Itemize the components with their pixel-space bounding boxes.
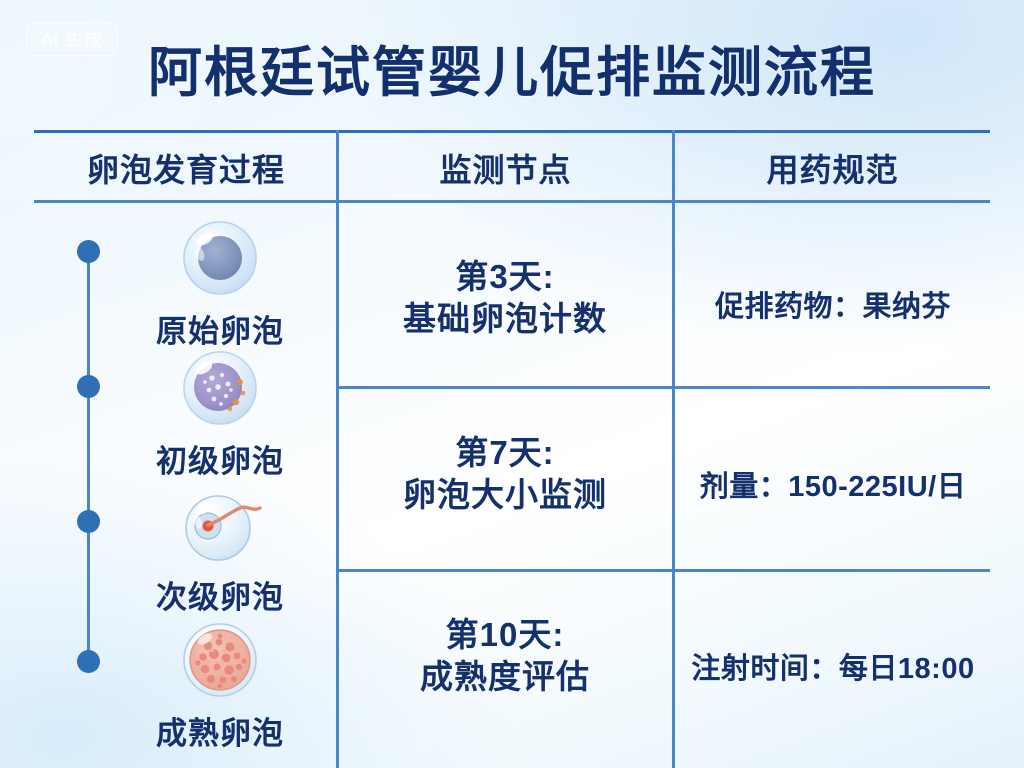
monitoring-day-3: 第10天: (340, 614, 670, 656)
page-title: 阿根廷试管婴儿促排监测流程 (0, 28, 1024, 107)
medication-cell-2: 剂量：150-225IU/日 (676, 463, 990, 505)
follicle-stage-3: 次级卵泡 (110, 478, 330, 617)
timeline-dot-1 (77, 240, 100, 263)
monitoring-cell-1: 第3天: 基础卵泡计数 (340, 256, 670, 340)
monitoring-task-2: 卵泡大小监测 (340, 474, 670, 516)
monitoring-cell-3: 第10天: 成熟度评估 (340, 614, 670, 698)
monitoring-cell-2: 第7天: 卵泡大小监测 (340, 432, 670, 516)
follicle-stage-4-label: 成熟卵泡 (110, 708, 330, 753)
column-divider-1 (336, 130, 339, 768)
table-header-divider (34, 200, 990, 203)
follicle-stage-4: 成熟卵泡 (110, 614, 330, 753)
follicle-stage-2-label: 初级卵泡 (110, 436, 330, 481)
timeline-connector (87, 252, 90, 662)
mature-follicle-icon (174, 614, 266, 706)
primary-follicle-icon (174, 342, 266, 434)
timeline-dot-4 (77, 650, 100, 673)
secondary-follicle-icon (174, 478, 266, 570)
primordial-follicle-icon (174, 212, 266, 304)
infographic-canvas: AI 生成 阿根廷试管婴儿促排监测流程 卵泡发育过程 监测节点 用药规范 (0, 0, 1024, 768)
timeline-dot-3 (77, 510, 100, 533)
follicle-stage-3-label: 次级卵泡 (110, 572, 330, 617)
monitoring-task-1: 基础卵泡计数 (340, 298, 670, 340)
column-header-medication-protocol: 用药规范 (675, 142, 990, 194)
table-top-border (34, 130, 990, 133)
monitoring-task-3: 成熟度评估 (340, 656, 670, 698)
column-divider-2 (672, 130, 675, 768)
medication-cell-3: 注射时间：每日18:00 (676, 645, 990, 687)
follicle-stage-1: 原始卵泡 (110, 212, 330, 351)
follicle-stage-2: 初级卵泡 (110, 342, 330, 481)
row-divider-2 (336, 569, 990, 572)
timeline-dot-2 (77, 375, 100, 398)
column-header-follicle-development: 卵泡发育过程 (36, 142, 336, 194)
monitoring-day-1: 第3天: (340, 256, 670, 298)
monitoring-day-2: 第7天: (340, 432, 670, 474)
medication-cell-1: 促排药物：果纳芬 (676, 283, 990, 325)
column-header-monitoring-nodes: 监测节点 (339, 142, 672, 194)
row-divider-1 (336, 386, 990, 389)
